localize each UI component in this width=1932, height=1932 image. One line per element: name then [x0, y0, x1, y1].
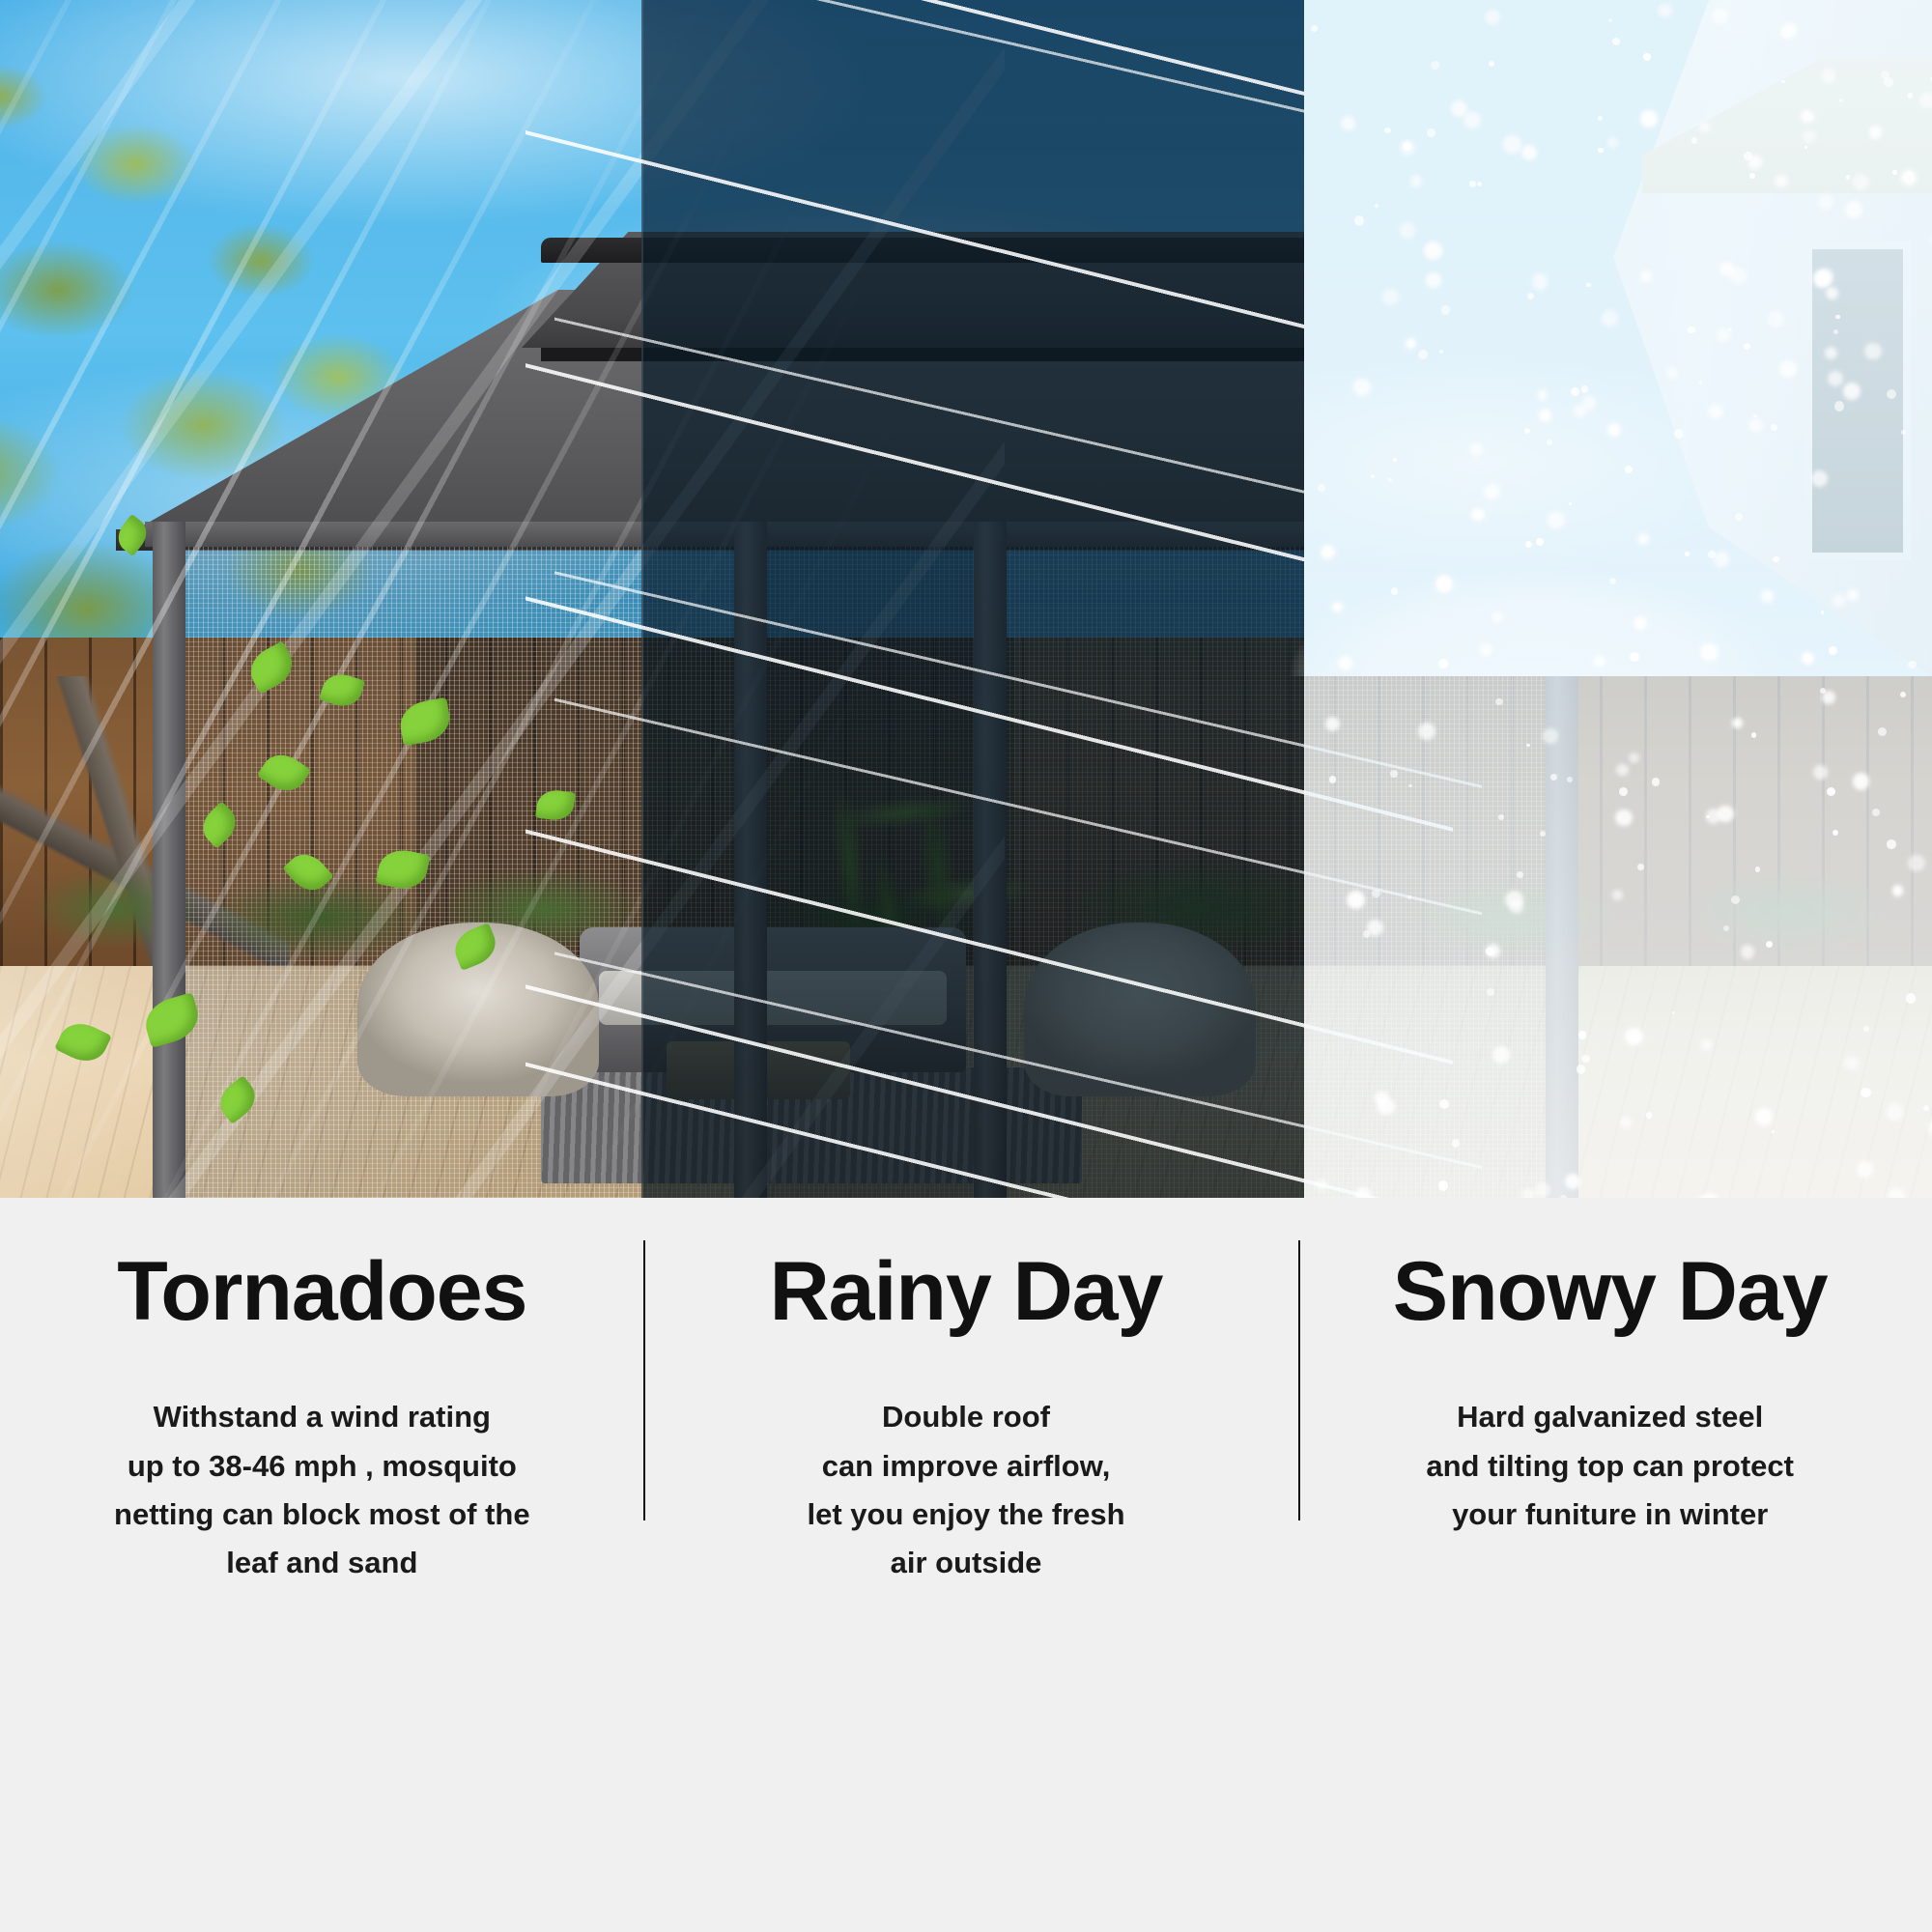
- gazebo-header-beam: [145, 522, 1594, 547]
- caption-body: Hard galvanized steeland tilting top can…: [1426, 1393, 1794, 1539]
- lounge-chair-right: [1024, 923, 1256, 1096]
- gazebo-post-4: [1546, 522, 1578, 1198]
- gazebo-post-3: [974, 522, 1007, 1198]
- caption-body: Withstand a wind ratingup to 38-46 mph ,…: [114, 1393, 530, 1587]
- caption-divider-1: [643, 1240, 645, 1520]
- panel-seam-1: [641, 0, 643, 1198]
- caption-divider-2: [1298, 1240, 1300, 1520]
- gazebo-post-1: [153, 522, 185, 1198]
- gazebo-roof-cap: [541, 238, 1391, 263]
- caption-bar: Tornadoes Withstand a wind ratingup to 3…: [0, 1198, 1932, 1932]
- weather-scene-composite: [0, 0, 1932, 1198]
- caption-title: Tornadoes: [117, 1248, 526, 1335]
- caption-title: Snowy Day: [1393, 1248, 1828, 1335]
- caption-title: Rainy Day: [770, 1248, 1163, 1335]
- lounge-chair-left: [357, 923, 599, 1096]
- caption-column-tornadoes: Tornadoes Withstand a wind ratingup to 3…: [0, 1198, 644, 1932]
- caption-column-snowy-day: Snowy Day Hard galvanized steeland tilti…: [1288, 1198, 1932, 1932]
- gazebo-post-2: [734, 522, 767, 1198]
- product-feature-graphic: Tornadoes Withstand a wind ratingup to 3…: [0, 0, 1932, 1932]
- caption-column-rainy-day: Rainy Day Double roofcan improve airflow…: [644, 1198, 1289, 1932]
- caption-body: Double roofcan improve airflow,let you e…: [808, 1393, 1125, 1587]
- panel-seam-2: [1304, 0, 1306, 1198]
- sofa-cushion: [599, 971, 947, 1025]
